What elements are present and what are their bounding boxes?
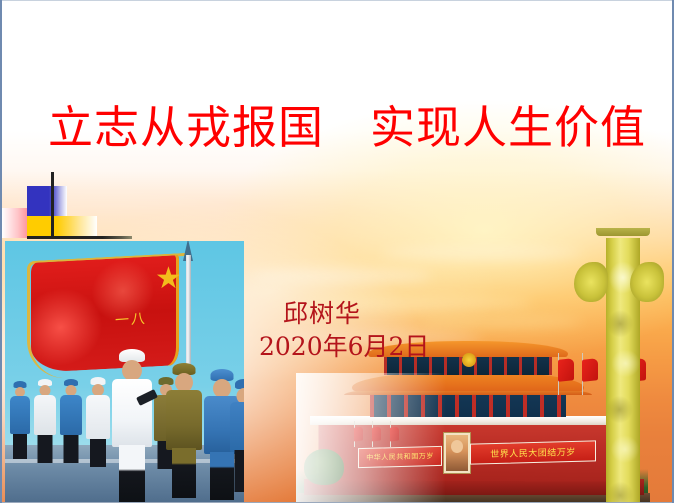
soldier-figure	[9, 381, 31, 459]
soldier-figure	[33, 379, 57, 463]
banner-right: 世界人民大团结万岁	[470, 440, 596, 464]
huabiao-cloud-board-right	[630, 262, 664, 302]
portrait-frame	[444, 433, 470, 473]
huabiao-cloud-board-left	[574, 262, 608, 302]
honour-guard-figure	[229, 379, 244, 491]
national-emblem	[462, 353, 476, 367]
tiananmen-scene-image: 中华人民共和国万岁 世界人民大团结万岁	[244, 228, 670, 503]
byline-block: 邱树华 2020年6月2日	[259, 298, 429, 363]
left-mist-fade	[296, 373, 446, 503]
slide-title: 立志从戎报国 实现人生价值	[48, 104, 648, 152]
yellow-gradient-block	[27, 216, 97, 238]
lead-soldier-figure	[111, 349, 153, 503]
blue-gradient-block	[27, 186, 67, 216]
huabiao-column	[590, 228, 652, 503]
vertical-rule	[51, 172, 54, 238]
huabiao-disc	[596, 228, 650, 236]
presentation-date: 2020年6月2日	[259, 331, 429, 364]
slide-top-edge	[2, 0, 672, 1]
flag-numerals: 一八	[115, 308, 147, 330]
horizontal-rule	[27, 236, 132, 239]
soldier-figure	[59, 379, 83, 463]
soldier-figure	[85, 377, 111, 467]
honour-guard-figure	[165, 363, 203, 497]
honour-guard-photo: 一八	[5, 241, 244, 503]
author-name: 邱树华	[259, 298, 429, 331]
presentation-slide: 立志从戎报国 实现人生价值	[0, 0, 674, 503]
